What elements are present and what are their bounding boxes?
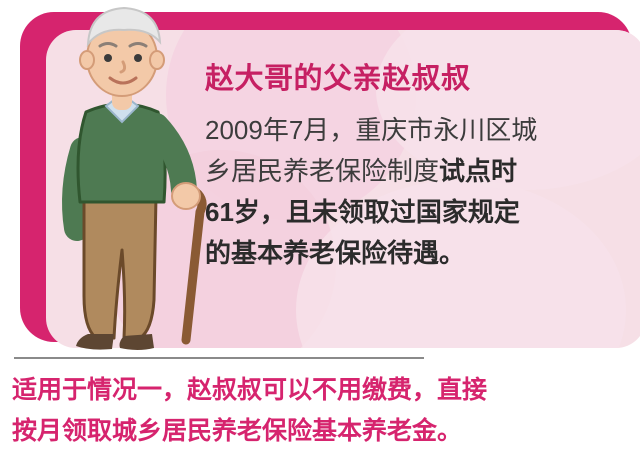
- card-body-line-4: 的基本养老保险待遇。: [205, 233, 595, 274]
- card-title: 赵大哥的父亲赵叔叔: [205, 62, 595, 96]
- card-text-block: 赵大哥的父亲赵叔叔 2009年7月，重庆市永川区城 乡居民养老保险制度试点时 6…: [205, 62, 595, 274]
- card-body: 2009年7月，重庆市永川区城 乡居民养老保险制度试点时 61岁，且未领取过国家…: [205, 110, 595, 274]
- bottom-section: 适用于情况一，赵叔叔可以不用缴费，直接 按月领取城乡居民养老保险基本养老金。: [0, 352, 640, 475]
- cane-icon: [178, 189, 202, 340]
- card-area: 赵大哥的父亲赵叔叔 2009年7月，重庆市永川区城 乡居民养老保险制度试点时 6…: [0, 0, 640, 352]
- conclusion-line-2: 按月领取城乡居民养老保险基本养老金。: [12, 411, 628, 452]
- conclusion-line-1: 适用于情况一，赵叔叔可以不用缴费，直接: [12, 370, 628, 411]
- card-body-line: 2009年7月，重庆市永川区城: [205, 110, 595, 151]
- divider: [14, 357, 424, 359]
- card-body-line-2: 乡居民养老保险制度试点时: [205, 151, 595, 192]
- card-body-line-2-emphasis: 试点时: [439, 156, 517, 186]
- card-body-line-3: 61岁，且未领取过国家规定: [205, 192, 595, 233]
- card-body-line-2-plain: 乡居民养老保险制度: [205, 156, 439, 186]
- conclusion-text: 适用于情况一，赵叔叔可以不用缴费，直接 按月领取城乡居民养老保险基本养老金。: [12, 370, 628, 452]
- poster-root: 赵大哥的父亲赵叔叔 2009年7月，重庆市永川区城 乡居民养老保险制度试点时 6…: [0, 0, 640, 475]
- elderly-man-illustration: [28, 0, 218, 352]
